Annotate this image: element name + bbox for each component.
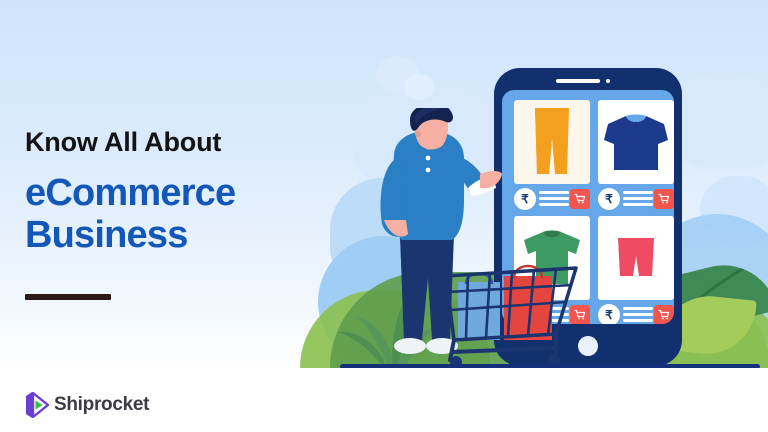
product-detail-lines <box>623 307 653 324</box>
character-shoe <box>394 338 426 354</box>
brand-logo[interactable]: Shiprocket <box>24 392 149 418</box>
product-card[interactable]: ₹ <box>598 216 674 324</box>
product-image <box>598 100 674 184</box>
cart-icon <box>574 193 586 205</box>
product-price-row: ₹ <box>598 304 674 324</box>
shiprocket-play-icon <box>24 392 50 418</box>
cart-icon <box>658 309 670 321</box>
product-price-row: ₹ <box>514 188 590 210</box>
trolley-handle <box>434 262 446 276</box>
trousers-icon <box>532 108 572 176</box>
add-to-cart-button[interactable] <box>654 305 674 324</box>
product-detail-lines <box>623 191 653 209</box>
phone-speaker <box>556 79 600 83</box>
price-badge: ₹ <box>598 304 620 324</box>
add-to-cart-button[interactable] <box>654 189 674 209</box>
page-title: eCommerce Business <box>25 172 345 257</box>
product-detail-lines <box>539 191 569 209</box>
character-pointing-hand <box>480 171 502 188</box>
product-price-row: ₹ <box>598 188 674 210</box>
title-line-2: Business <box>25 214 345 257</box>
headline-eyebrow: Know All About <box>25 128 345 158</box>
product-card[interactable]: ₹ <box>514 100 590 210</box>
cloud-shape <box>404 74 434 100</box>
phone-camera-icon <box>606 79 610 83</box>
price-badge: ₹ <box>514 188 536 210</box>
product-image <box>514 100 590 184</box>
shorts-icon <box>616 238 656 278</box>
title-underline <box>25 294 111 300</box>
title-line-1: eCommerce <box>25 172 235 214</box>
product-card[interactable]: ₹ <box>598 100 674 210</box>
cart-icon <box>658 193 670 205</box>
brand-name: Shiprocket <box>54 394 149 416</box>
headline-block: Know All About eCommerce Business <box>25 128 345 257</box>
shopping-trolley <box>428 248 588 368</box>
price-badge: ₹ <box>598 188 620 210</box>
sweater-icon <box>604 114 668 170</box>
add-to-cart-button[interactable] <box>570 189 590 209</box>
product-image <box>598 216 674 300</box>
ecommerce-banner: ₹ <box>0 0 768 432</box>
